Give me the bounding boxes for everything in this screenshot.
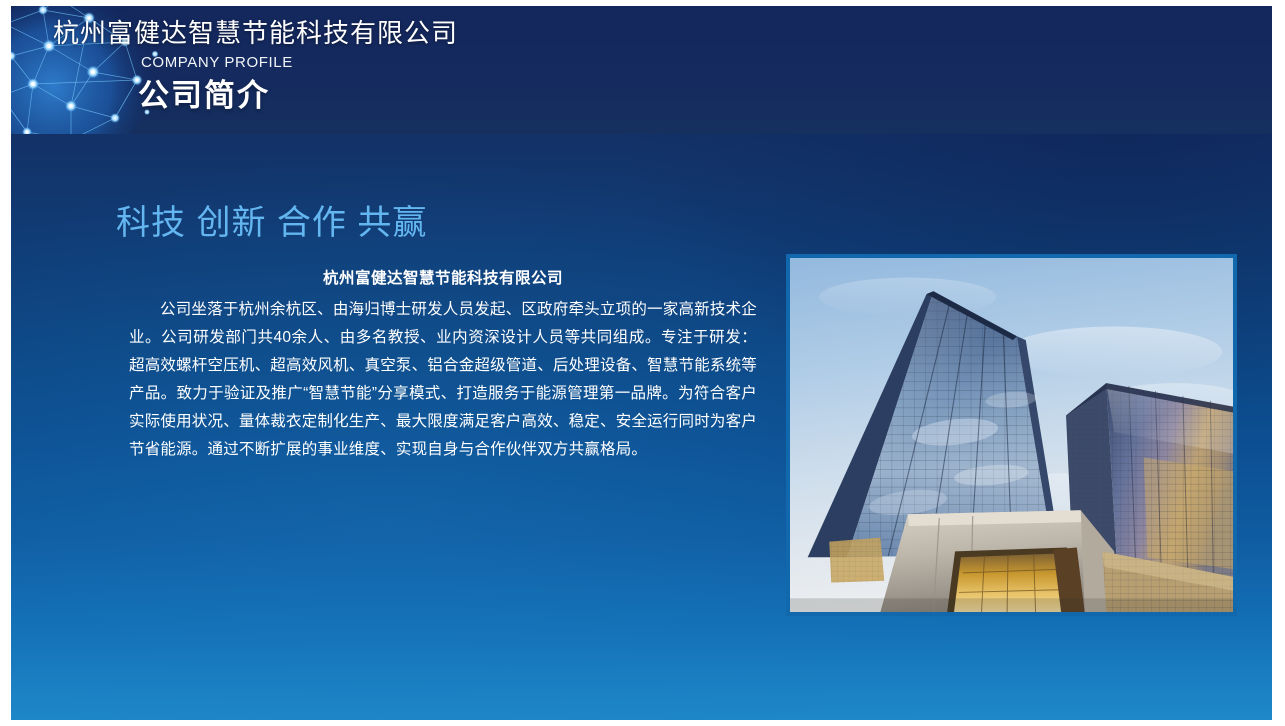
company-description-block: 杭州富健达智慧节能科技有限公司 公司坐落于杭州余杭区、由海归博士研发人员发起、区… (129, 268, 757, 464)
description-company-name: 杭州富健达智慧节能科技有限公司 (129, 268, 757, 290)
slide-canvas: 杭州富健达智慧节能科技有限公司 COMPANY PROFILE 公司简介 科技 … (11, 6, 1272, 720)
photo-frame (786, 254, 1237, 616)
description-paragraph: 公司坐落于杭州余杭区、由海归博士研发人员发起、区政府牵头立项的一家高新技术企业。… (129, 296, 757, 464)
header-subtitle-chinese: 公司简介 (138, 76, 270, 116)
skyscraper-photo (790, 258, 1233, 612)
header-company-name: 杭州富健达智慧节能科技有限公司 (53, 18, 458, 48)
header-subtitle-english: COMPANY PROFILE (141, 54, 293, 72)
slogan-text: 科技 创新 合作 共赢 (116, 200, 427, 246)
slide-header: 杭州富健达智慧节能科技有限公司 COMPANY PROFILE 公司简介 (11, 6, 1272, 134)
